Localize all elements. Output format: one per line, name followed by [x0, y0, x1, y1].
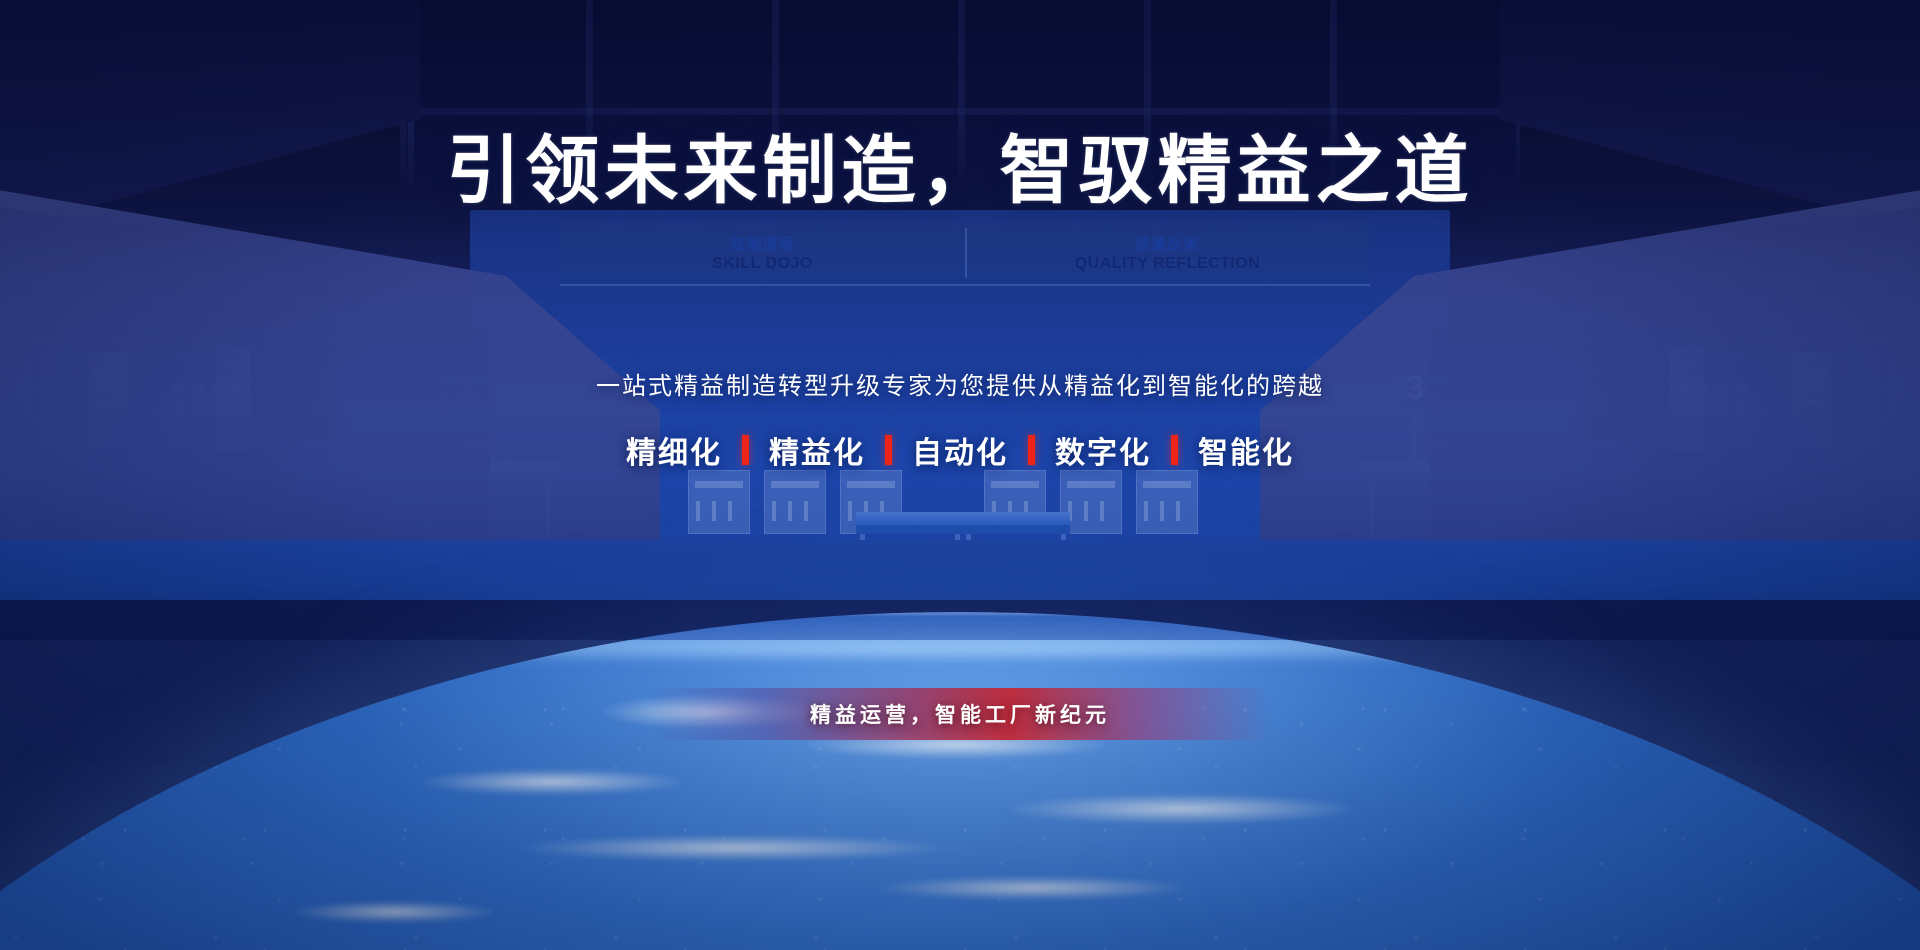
keyword-separator-icon — [1028, 435, 1035, 465]
keyword-separator-icon — [742, 435, 749, 465]
keyword-separator-icon — [885, 435, 892, 465]
keyword-item: 智能化 — [1198, 428, 1294, 472]
keyword-item: 数字化 — [1055, 428, 1151, 472]
tagline-badge: 精益运营，智能工厂新纪元 — [650, 688, 1270, 740]
keyword-item: 精细化 — [626, 428, 722, 472]
hero-banner: 技能道场 SKILL DOJO 质量反省 QUALITY REFLECTION … — [0, 0, 1920, 950]
banner-subheadline: 一站式精益制造转型升级专家为您提供从精益化到智能化的跨越 — [0, 366, 1920, 401]
keyword-item: 自动化 — [912, 428, 1008, 472]
banner-headline: 引领未来制造，智驭精益之道 — [0, 134, 1920, 208]
keyword-separator-icon — [1171, 435, 1178, 465]
keyword-list: 精细化 精益化 自动化 数字化 智能化 — [0, 428, 1920, 472]
keyword-item: 精益化 — [769, 428, 865, 472]
banner-content: 引领未来制造，智驭精益之道 一站式精益制造转型升级专家为您提供从精益化到智能化的… — [0, 0, 1920, 950]
